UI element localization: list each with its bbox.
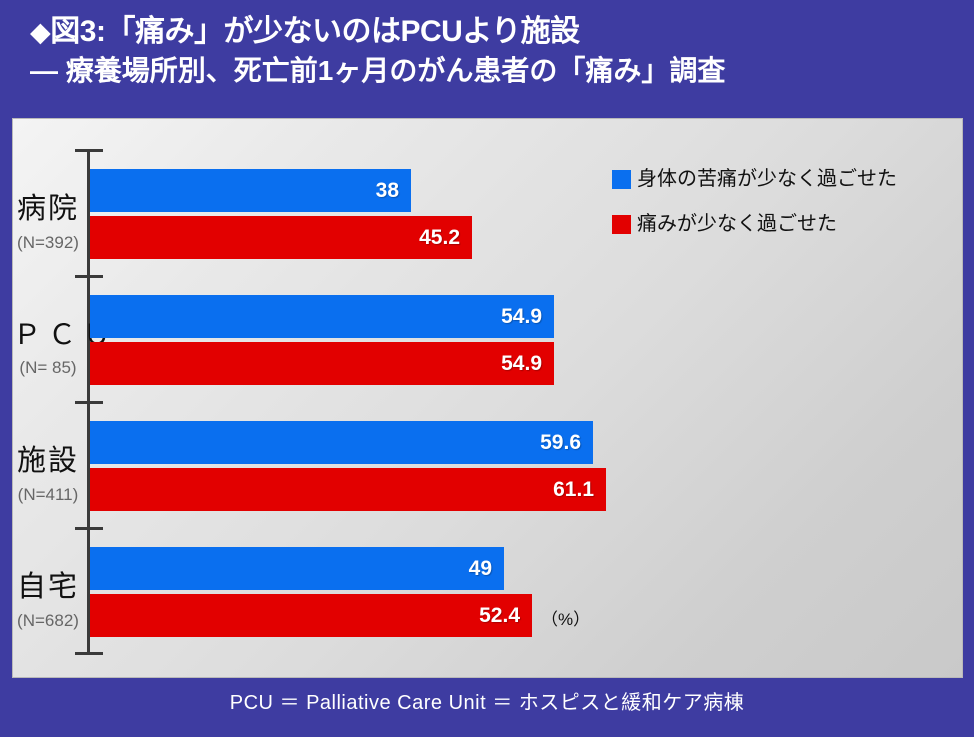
- category-name-home: 自宅: [13, 573, 83, 602]
- bar-value-facility-physical: 59.6: [540, 431, 593, 455]
- bar-value-home-physical: 49: [469, 557, 504, 581]
- bar-facility-pain: 61.1: [90, 468, 606, 511]
- axis-tick-2: [75, 401, 103, 404]
- bar-value-hospital-pain: 45.2: [419, 226, 472, 250]
- category-n-home: (N=682): [13, 612, 83, 629]
- legend-item-physical: 身体の苦痛が少なく過ごせた: [612, 169, 897, 189]
- bar-home-pain: 52.4: [90, 594, 532, 637]
- title-line-2: — 療養場所別、死亡前1ヶ月のがん患者の「痛み」調査: [30, 52, 974, 89]
- legend-swatch-red-icon: [612, 215, 631, 234]
- chart-legend: 身体の苦痛が少なく過ごせた 痛みが少なく過ごせた: [612, 169, 897, 259]
- category-n-hospital: (N=392): [13, 234, 83, 251]
- category-name-hospital: 病院: [13, 195, 83, 224]
- category-label-hospital: 病院 (N=392): [13, 195, 83, 251]
- bar-hospital-pain: 45.2: [90, 216, 472, 259]
- bar-value-pcu-pain: 54.9: [501, 352, 554, 376]
- title-line-1-text: 図3:「痛み」が少ないのはPCUより施設: [50, 15, 579, 48]
- legend-label-physical: 身体の苦痛が少なく過ごせた: [637, 169, 897, 189]
- category-label-home: 自宅 (N=682): [13, 573, 83, 629]
- axis-tick-3: [75, 527, 103, 530]
- axis-tick-1: [75, 275, 103, 278]
- bar-pcu-physical: 54.9: [90, 295, 554, 338]
- axis-tick-4: [75, 652, 103, 655]
- category-name-facility: 施設: [13, 447, 83, 476]
- unit-label-percent: （%）: [541, 605, 590, 630]
- category-label-facility: 施設 (N=411): [13, 447, 83, 503]
- bar-pcu-pain: 54.9: [90, 342, 554, 385]
- page-title: ◆図3:「痛み」が少ないのはPCUより施設 — 療養場所別、死亡前1ヶ月のがん患…: [0, 0, 974, 118]
- legend-item-pain: 痛みが少なく過ごせた: [612, 214, 897, 234]
- bar-facility-physical: 59.6: [90, 421, 593, 464]
- bar-value-hospital-physical: 38: [376, 179, 411, 203]
- footer-note: PCU ＝ Palliative Care Unit ＝ ホスピスと緩和ケア病棟: [0, 686, 974, 715]
- legend-label-pain: 痛みが少なく過ごせた: [637, 214, 837, 234]
- category-n-facility: (N=411): [13, 486, 83, 503]
- legend-swatch-blue-icon: [612, 170, 631, 189]
- bar-hospital-physical: 38: [90, 169, 411, 212]
- category-n-pcu: (N= 85): [13, 359, 83, 376]
- chart-panel: 病院 (N=392) ＰＣＵ (N= 85) 施設 (N=411) 自宅 (N=…: [12, 118, 963, 678]
- category-name-pcu: ＰＣＵ: [13, 321, 83, 349]
- bar-value-facility-pain: 61.1: [553, 478, 606, 502]
- bar-value-pcu-physical: 54.9: [501, 305, 554, 329]
- title-line-1: ◆図3:「痛み」が少ないのはPCUより施設: [30, 12, 974, 52]
- axis-tick-0: [75, 149, 103, 152]
- diamond-bullet-icon: ◆: [30, 17, 50, 47]
- bar-value-home-pain: 52.4: [479, 604, 532, 628]
- bar-home-physical: 49: [90, 547, 504, 590]
- category-label-pcu: ＰＣＵ (N= 85): [13, 321, 83, 376]
